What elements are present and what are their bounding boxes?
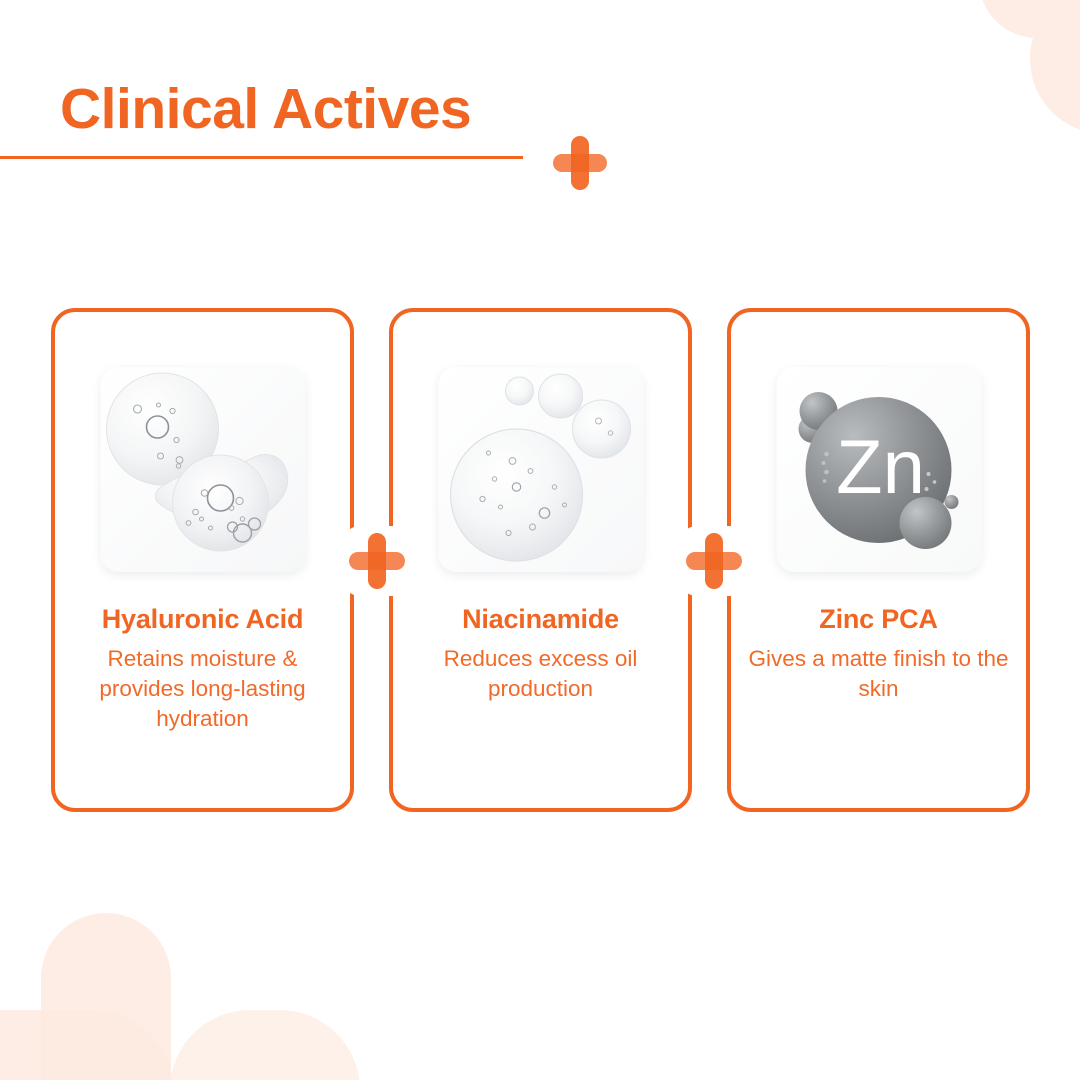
cross-horizontal-bar — [686, 552, 742, 571]
gel-droplets-image — [100, 367, 305, 572]
card-description: Reduces excess oil production — [407, 644, 674, 704]
cross-horizontal-bar — [349, 552, 405, 571]
card-title: Niacinamide — [403, 602, 678, 636]
active-card-niacinamide[interactable]: Niacinamide Reduces excess oil productio… — [389, 308, 692, 812]
serum-droplet-image — [438, 367, 643, 572]
actives-card-list: Hyaluronic Acid Retains moisture & provi… — [0, 0, 1080, 1080]
zinc-molecule-image: Zn — [776, 367, 981, 572]
card-description: Gives a matte finish to the skin — [745, 644, 1012, 704]
zinc-symbol-label: Zn — [836, 425, 925, 510]
active-card-hyaluronic-acid[interactable]: Hyaluronic Acid Retains moisture & provi… — [51, 308, 354, 812]
plus-cross-icon-connector-1 — [349, 533, 405, 589]
active-card-zinc-pca[interactable]: Zn Zinc PCA Gives a matte finish to the … — [727, 308, 1030, 812]
card-title: Hyaluronic Acid — [65, 602, 340, 636]
card-title: Zinc PCA — [741, 602, 1016, 636]
plus-cross-icon-connector-2 — [686, 533, 742, 589]
card-description: Retains moisture & provides long-lasting… — [69, 644, 336, 734]
